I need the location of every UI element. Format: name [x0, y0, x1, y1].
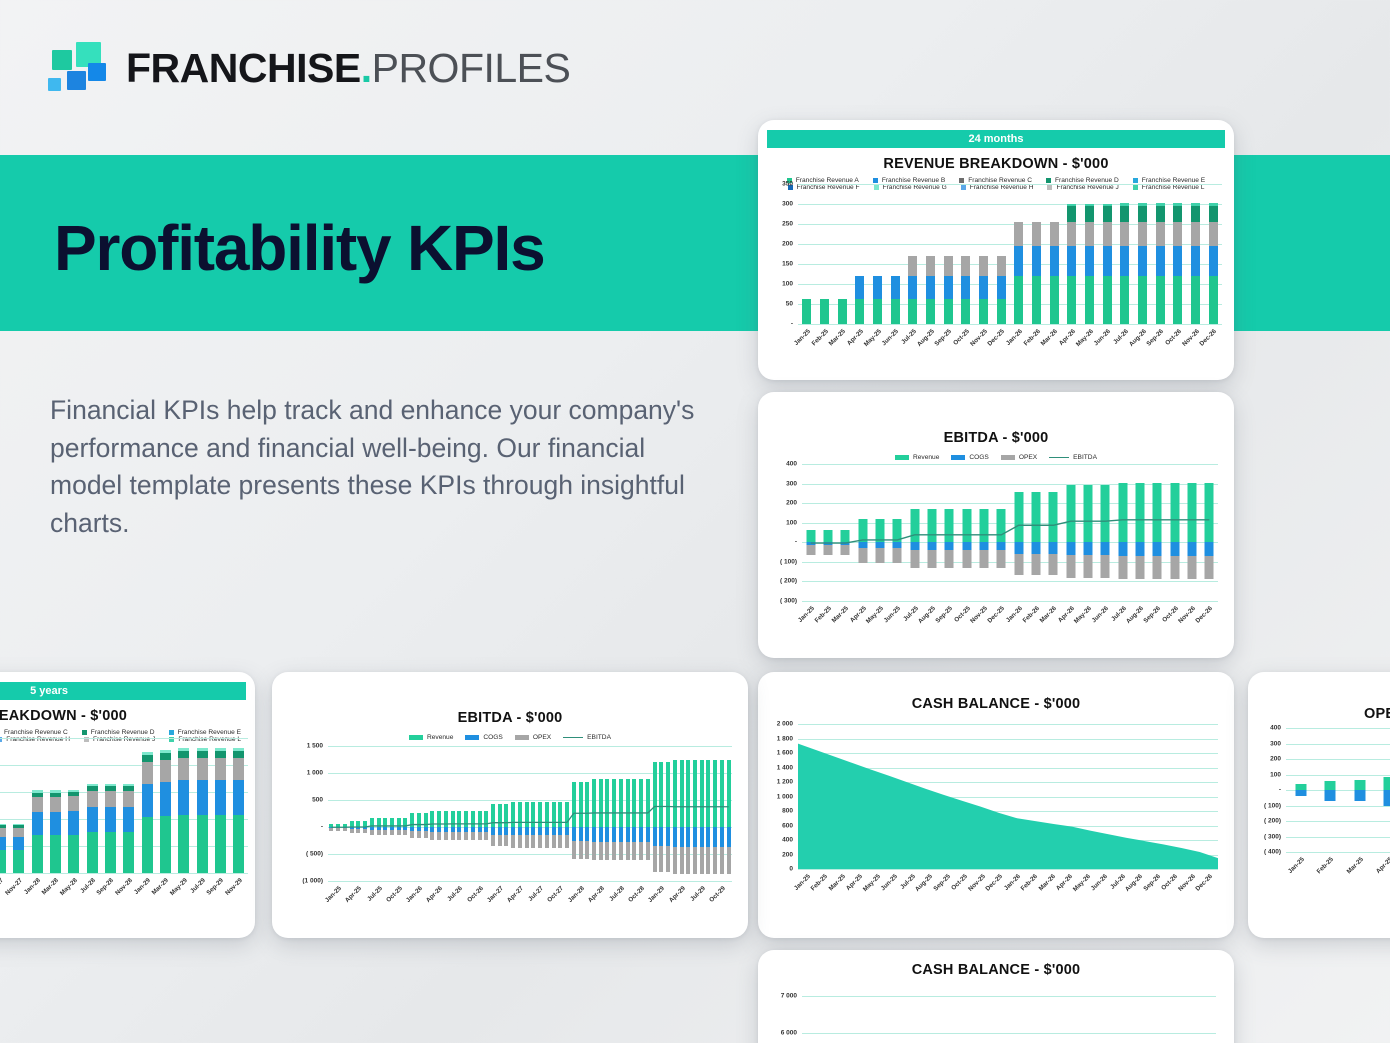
bar-segment	[873, 276, 882, 299]
bar	[1032, 222, 1041, 324]
bar-group	[101, 738, 119, 873]
bar	[197, 748, 208, 873]
bar-segment	[215, 815, 226, 873]
bar-segment	[855, 276, 864, 299]
card-revenue-breakdown-5-years[interactable]: 5 years REAKDOWN - $'000 Franchise Reven…	[0, 672, 255, 938]
bar-segment	[197, 758, 208, 781]
bar-group	[138, 738, 156, 873]
bar-segment	[926, 276, 935, 299]
bar	[32, 790, 43, 873]
y-axis-tick: 150	[758, 261, 793, 268]
bar	[13, 824, 24, 873]
y-axis-tick: 800	[758, 808, 793, 815]
bar-segment	[13, 828, 24, 837]
bar-group	[798, 184, 816, 324]
bar	[160, 750, 171, 873]
bar-segment	[13, 850, 24, 873]
bar	[979, 256, 988, 324]
bar-segment	[1067, 276, 1076, 324]
bar-segment	[1085, 222, 1094, 246]
bar-segment	[838, 299, 847, 324]
legend-item: Franchise Revenue D	[82, 729, 155, 736]
legend-swatch	[409, 735, 423, 740]
y-axis-tick: 1 800	[758, 735, 793, 742]
y-axis-tick: 300	[758, 480, 797, 487]
y-axis-tick: -	[272, 824, 323, 831]
bar-segment	[1138, 206, 1147, 222]
legend-swatch	[515, 735, 529, 740]
y-axis-tick: 6 000	[758, 1030, 797, 1037]
y-axis-tick: -	[758, 539, 797, 546]
legend-swatch	[873, 178, 878, 183]
bar	[1156, 203, 1165, 324]
y-axis-tick: 300	[1248, 740, 1281, 747]
bar-segment	[961, 256, 970, 276]
legend-label: Franchise Revenue D	[91, 729, 155, 736]
bar-segment	[160, 753, 171, 760]
y-axis-tick: ( 100)	[758, 558, 797, 565]
bar-segment	[1085, 246, 1094, 276]
bar-segment	[1103, 246, 1112, 276]
legend-item: EBITDA	[1049, 454, 1097, 461]
bar-segment	[1173, 246, 1182, 276]
legend-label: EBITDA	[1073, 454, 1097, 461]
bar	[1050, 222, 1059, 324]
bar-segment	[908, 256, 917, 276]
brand-name-dot: .	[361, 45, 372, 91]
bar-group	[922, 184, 940, 324]
bar-segment	[68, 811, 79, 834]
brand-wordmark: FRANCHISE.PROFILES	[126, 48, 570, 89]
bar-group	[957, 184, 975, 324]
y-axis-tick: 350	[758, 181, 793, 188]
bar-segment	[32, 835, 43, 873]
bar-segment	[961, 299, 970, 324]
bar-segment	[1085, 206, 1094, 222]
bar-segment	[1191, 206, 1200, 222]
logo-square-4	[67, 71, 86, 90]
bar-group	[46, 738, 64, 873]
bar-segment	[944, 276, 953, 299]
bar-group	[1151, 184, 1169, 324]
bar	[1085, 204, 1094, 324]
bar-group	[1345, 728, 1375, 852]
bar-segment	[1085, 276, 1094, 324]
bar-group	[904, 184, 922, 324]
legend-label: Revenue	[427, 734, 453, 741]
legend-swatch	[169, 730, 174, 735]
bar-group	[939, 184, 957, 324]
bar-segment	[1067, 206, 1076, 222]
bar-segment	[997, 276, 1006, 299]
legend-label: Franchise Revenue D	[1055, 177, 1119, 184]
bar-segment	[13, 837, 24, 851]
gridline	[798, 869, 1218, 870]
bar-segment	[1014, 246, 1023, 276]
cash-area-5y	[802, 996, 1216, 1043]
bar-group	[120, 738, 138, 873]
bar-segment	[50, 797, 61, 812]
bar-group	[0, 738, 10, 873]
chart-title-cash-5y: CASH BALANCE - $'000	[758, 962, 1234, 978]
bar-segment	[1138, 246, 1147, 276]
bar	[1103, 204, 1112, 324]
bar-segment	[997, 256, 1006, 276]
bar-segment	[215, 780, 226, 815]
bar	[820, 299, 829, 324]
card-cash-balance-24-months[interactable]: CASH BALANCE - $'000 2 0001 8001 6001 40…	[758, 672, 1234, 938]
y-axis-tick: 200	[758, 241, 793, 248]
bar-segment	[68, 835, 79, 873]
y-axis-tick: 1 600	[758, 750, 793, 757]
bar-group	[869, 184, 887, 324]
bar-segment	[50, 812, 61, 835]
bar	[926, 256, 935, 324]
legend-label: Franchise Revenue C	[968, 177, 1032, 184]
bar-segment	[1138, 276, 1147, 324]
bar-segment	[87, 807, 98, 832]
gridline	[802, 601, 1218, 602]
bar-group	[65, 738, 83, 873]
bar-segment	[1156, 276, 1165, 324]
bar	[50, 790, 61, 873]
legend-swatch	[951, 455, 965, 460]
chart-title-opex: OPE	[1248, 706, 1390, 722]
bar-segment	[1173, 222, 1182, 246]
bar-series-opex	[1286, 728, 1390, 852]
bar-segment-positive	[1354, 780, 1365, 790]
legend-item: Franchise Revenue C	[959, 177, 1032, 184]
bar-segment	[1156, 246, 1165, 276]
chart-title-ebitda-5y: EBITDA - $'000	[272, 710, 748, 726]
legend-swatch	[563, 737, 583, 739]
legend-label: Franchise Revenue A	[796, 177, 859, 184]
logo-square-5	[88, 63, 106, 81]
bar-group	[28, 738, 46, 873]
bar-segment	[105, 807, 116, 832]
bar-segment	[1120, 276, 1129, 324]
bar-segment	[105, 791, 116, 807]
bar-segment	[1191, 276, 1200, 324]
legend-label: Franchise Revenue C	[4, 729, 68, 736]
bar-segment	[979, 276, 988, 299]
card-ebitda-24-months[interactable]: EBITDA - $'000 RevenueCOGSOPEXEBITDA 400…	[758, 392, 1234, 658]
bar-segment	[50, 835, 61, 873]
bar-segment	[802, 299, 811, 324]
bar-group	[10, 738, 28, 873]
legend-label: Franchise Revenue B	[882, 177, 945, 184]
y-axis-tick: 2 000	[758, 721, 793, 728]
chart-title-revenue-24m: REVENUE BREAKDOWN - $'000	[758, 156, 1234, 172]
bar	[891, 276, 900, 324]
y-axis-tick: 500	[272, 797, 323, 804]
bar-group	[816, 184, 834, 324]
bar	[87, 784, 98, 873]
y-axis-tick: ( 300)	[1248, 833, 1281, 840]
y-axis-tick: ( 500)	[272, 851, 323, 858]
bar	[105, 784, 116, 873]
chart-legend-ebitda-5y: RevenueCOGSOPEXEBITDA	[272, 734, 748, 741]
bar-segment	[820, 299, 829, 324]
bar-group	[1063, 184, 1081, 324]
bar-group	[886, 184, 904, 324]
bar-segment	[178, 758, 189, 781]
bar-segment	[0, 850, 6, 873]
card-header-period: 24 months	[767, 130, 1225, 148]
legend-label: Revenue	[913, 454, 939, 461]
bar-segment	[178, 751, 189, 758]
brand-name-light: PROFILES	[372, 45, 571, 91]
y-axis-tick: 250	[758, 221, 793, 228]
bar-group	[193, 738, 211, 873]
bar-segment	[873, 299, 882, 324]
legend-label: OPEX	[1019, 454, 1037, 461]
card-revenue-breakdown-24-months[interactable]: 24 months REVENUE BREAKDOWN - $'000 Fran…	[758, 120, 1234, 380]
chart-title-revenue-5y: REAKDOWN - $'000	[0, 708, 255, 724]
logo-mark-icon	[46, 40, 108, 96]
bar-segment-positive	[1384, 777, 1390, 790]
y-axis-tick: ( 300)	[758, 598, 797, 605]
legend-item: Franchise Revenue A	[787, 177, 859, 184]
bar-segment	[142, 817, 153, 873]
legend-swatch	[1046, 178, 1051, 183]
legend-item: Revenue	[409, 734, 453, 741]
bar-segment	[197, 815, 208, 873]
y-axis-tick: ( 200)	[758, 578, 797, 585]
y-axis-tick: ( 400)	[1248, 849, 1281, 856]
bar-segment	[908, 299, 917, 324]
card-header-period-5y: 5 years	[0, 682, 246, 700]
y-axis-tick: 50	[758, 301, 793, 308]
y-axis-tick: 100	[1248, 771, 1281, 778]
bar-series-revenue-5y	[0, 738, 248, 873]
bar-segment	[215, 751, 226, 758]
bar	[1191, 203, 1200, 324]
bar	[838, 299, 847, 324]
legend-item: COGS	[465, 734, 502, 741]
legend-item: Franchise Revenue C	[0, 729, 68, 736]
bar-segment	[944, 299, 953, 324]
gridline	[0, 873, 248, 874]
y-axis-tick: -	[758, 321, 793, 328]
bar-segment	[178, 780, 189, 815]
y-axis-tick: 400	[1248, 725, 1281, 732]
bar	[1120, 203, 1129, 324]
bar-segment	[979, 256, 988, 276]
y-axis-tick: 1 200	[758, 779, 793, 786]
bar	[1173, 203, 1182, 324]
legend-item: EBITDA	[563, 734, 611, 741]
bar-segment	[142, 755, 153, 762]
y-axis-tick: 7 000	[758, 993, 797, 1000]
bar	[123, 784, 134, 873]
logo-square-1	[52, 50, 72, 70]
legend-label: Franchise Revenue E	[1142, 177, 1205, 184]
bar-segment	[1209, 276, 1218, 324]
bar-segment	[160, 760, 171, 782]
bar-segment	[1156, 222, 1165, 246]
bar-group	[211, 738, 229, 873]
bar	[215, 748, 226, 873]
legend-swatch	[465, 735, 479, 740]
bar-group	[1134, 184, 1152, 324]
card-opex-partial[interactable]: OPE 400300200100-( 100)( 200)( 300)( 400…	[1248, 672, 1390, 938]
page-title: Profitability KPIs	[54, 216, 545, 280]
bar-segment-positive	[1325, 781, 1336, 790]
bar-segment	[1209, 222, 1218, 246]
bar-segment	[32, 812, 43, 835]
bar-segment	[997, 299, 1006, 324]
bar-segment	[123, 832, 134, 873]
bar-segment	[178, 815, 189, 873]
legend-item: Franchise Revenue B	[873, 177, 945, 184]
y-axis-tick: 200	[1248, 756, 1281, 763]
bar	[802, 299, 811, 324]
bar-group	[851, 184, 869, 324]
bar-segment	[32, 797, 43, 812]
bar-segment	[1014, 222, 1023, 246]
bar-group	[230, 738, 248, 873]
y-axis-tick: 100	[758, 519, 797, 526]
bar-segment	[0, 828, 6, 837]
cash-area-24m	[798, 724, 1218, 869]
bar	[233, 748, 244, 873]
bar-group	[1028, 184, 1046, 324]
y-axis-tick: 600	[758, 822, 793, 829]
bar	[142, 752, 153, 873]
bar-group	[992, 184, 1010, 324]
legend-item: Franchise Revenue E	[1133, 177, 1205, 184]
y-axis-tick: 1 000	[758, 793, 793, 800]
bar	[68, 790, 79, 873]
y-axis-tick: 200	[758, 851, 793, 858]
gridline	[1286, 852, 1390, 853]
bar-segment	[1103, 276, 1112, 324]
y-axis-tick: 0	[758, 866, 793, 873]
y-axis-tick: 300	[758, 201, 793, 208]
bar-group	[1045, 184, 1063, 324]
bar-segment	[160, 782, 171, 816]
legend-label: COGS	[483, 734, 502, 741]
bar-segment	[1050, 222, 1059, 246]
bar-segment	[944, 256, 953, 276]
bar-segment-negative	[1354, 790, 1365, 801]
bar	[908, 256, 917, 324]
bar-segment	[215, 758, 226, 781]
bar-segment	[1032, 276, 1041, 324]
legend-swatch	[1049, 457, 1069, 459]
bar-segment	[1209, 206, 1218, 222]
y-axis-tick: -	[1248, 787, 1281, 794]
legend-item: Franchise Revenue E	[169, 729, 241, 736]
bar-segment	[1209, 246, 1218, 276]
bar-group	[1204, 184, 1222, 324]
brand-name-bold: FRANCHISE	[126, 45, 361, 91]
legend-item: OPEX	[515, 734, 551, 741]
y-axis-tick: ( 100)	[1248, 802, 1281, 809]
bar-group	[1169, 184, 1187, 324]
bar-group	[1187, 184, 1205, 324]
bar-segment	[1191, 222, 1200, 246]
bar-segment	[891, 276, 900, 299]
legend-swatch	[82, 730, 87, 735]
bar	[1138, 203, 1147, 324]
y-axis-tick: 1 400	[758, 764, 793, 771]
y-axis-tick: 1 000	[272, 770, 323, 777]
bar-segment	[979, 299, 988, 324]
legend-swatch	[895, 455, 909, 460]
bar-segment	[891, 299, 900, 324]
bar-segment	[197, 780, 208, 815]
gridline	[328, 881, 732, 882]
y-axis-tick: 200	[758, 500, 797, 507]
bar-segment-negative	[1384, 790, 1390, 806]
bar-group	[175, 738, 193, 873]
gridline	[798, 324, 1222, 325]
bar	[178, 748, 189, 873]
bar-group	[1316, 728, 1346, 852]
logo-square-3	[48, 78, 61, 91]
y-axis-tick: 1 500	[272, 743, 323, 750]
bar-segment	[1120, 222, 1129, 246]
legend-swatch	[1133, 178, 1138, 183]
bar-segment	[1032, 222, 1041, 246]
bar-segment	[855, 299, 864, 324]
legend-label: OPEX	[533, 734, 551, 741]
bar-segment	[926, 256, 935, 276]
brand-logo: FRANCHISE.PROFILES	[46, 40, 570, 96]
bar-group	[975, 184, 993, 324]
y-axis-tick: ( 200)	[1248, 818, 1281, 825]
bar	[1014, 222, 1023, 324]
y-axis-tick: 400	[758, 461, 797, 468]
ebitda-line-24m	[802, 464, 1218, 601]
y-axis-tick: (1 000)	[272, 878, 323, 885]
bar-segment	[1120, 206, 1129, 222]
bar	[1067, 204, 1076, 324]
bar-segment-negative	[1325, 790, 1336, 801]
bar-group	[83, 738, 101, 873]
bar-segment	[1014, 276, 1023, 324]
bar-segment	[1173, 276, 1182, 324]
bar-segment	[1120, 246, 1129, 276]
bar-segment-negative	[1295, 790, 1306, 796]
bar-segment	[1156, 206, 1165, 222]
bar-segment	[908, 276, 917, 299]
bar-group	[833, 184, 851, 324]
bar-group	[156, 738, 174, 873]
bar-segment	[1067, 246, 1076, 276]
legend-swatch	[959, 178, 964, 183]
bar	[944, 256, 953, 324]
bar-segment	[961, 276, 970, 299]
bar-segment	[87, 791, 98, 807]
bar-segment	[142, 784, 153, 818]
card-ebitda-5-years[interactable]: EBITDA - $'000 RevenueCOGSOPEXEBITDA 1 5…	[272, 672, 748, 938]
bar-group	[1098, 184, 1116, 324]
bar-segment	[1032, 246, 1041, 276]
legend-item: COGS	[951, 454, 988, 461]
bar	[873, 276, 882, 324]
card-cash-balance-5-years[interactable]: CASH BALANCE - $'000 7 0006 0005 000	[758, 950, 1234, 1043]
bar	[855, 276, 864, 324]
bar	[961, 256, 970, 324]
y-axis-tick: 100	[758, 281, 793, 288]
legend-label: COGS	[969, 454, 988, 461]
bar-segment	[1050, 246, 1059, 276]
bar-segment	[142, 762, 153, 784]
bar-segment	[1103, 206, 1112, 222]
